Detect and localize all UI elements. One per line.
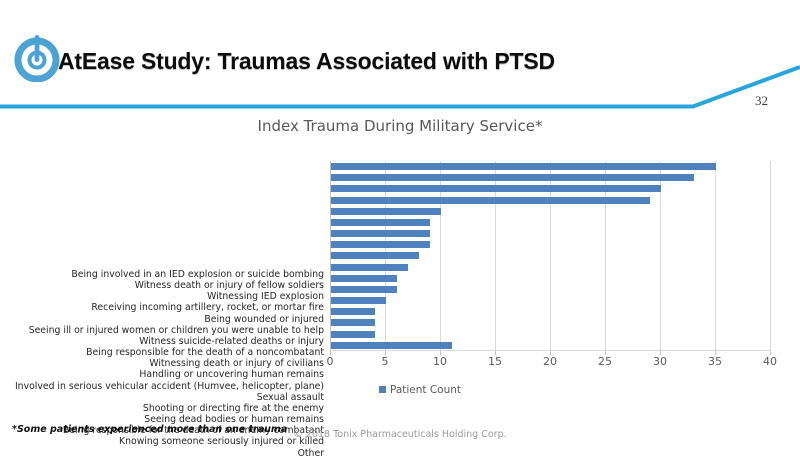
chart-category-label: Witness suicide-related deaths or injury xyxy=(0,336,327,347)
chart-bar-row xyxy=(331,161,771,172)
chart-bar-row xyxy=(331,284,771,295)
chart-bar-row xyxy=(331,317,771,328)
page-title: AtEase Study: Traumas Associated with PT… xyxy=(58,48,555,75)
chart-title: Index Trauma During Military Service* xyxy=(0,117,800,135)
chart-bar-row xyxy=(331,217,771,228)
slide-header: AtEase Study: Traumas Associated with PT… xyxy=(0,0,800,108)
axis-tick-label: 0 xyxy=(327,355,334,368)
chart-plot-area: 0510152025303540 xyxy=(330,161,770,351)
axis-tick-label: 20 xyxy=(543,355,557,368)
copyright-notice: © 2018 Tonix Pharmaceuticals Holding Cor… xyxy=(0,429,800,440)
chart-category-label: Witness death or injury of fellow soldie… xyxy=(0,280,327,291)
chart-bar xyxy=(331,252,419,259)
axis-tick-label: 10 xyxy=(433,355,447,368)
chart-category-label: Shooting or directing fire at the enemy xyxy=(0,403,327,414)
chart-bar xyxy=(331,174,694,181)
chart-bar-row xyxy=(331,239,771,250)
legend-entry: Patient Count xyxy=(379,384,461,396)
axis-tick-label: 25 xyxy=(598,355,612,368)
chart-bar xyxy=(331,163,716,170)
chart-container: Index Trauma During Military Service* Be… xyxy=(0,108,800,398)
chart-bar xyxy=(331,219,430,226)
axis-tick-label: 30 xyxy=(653,355,667,368)
axis-tick-label: 5 xyxy=(382,355,389,368)
chart-bar xyxy=(331,275,397,282)
chart-category-label: Seeing ill or injured women or children … xyxy=(0,325,327,336)
chart-bar xyxy=(331,286,397,293)
chart-bar-row xyxy=(331,206,771,217)
chart-category-label: Being wounded or injured xyxy=(0,314,327,325)
power-button-logo-icon xyxy=(12,30,62,82)
axis-tick-label: 15 xyxy=(488,355,502,368)
chart-category-label: Witnessing IED explosion xyxy=(0,291,327,302)
chart-bar-row xyxy=(331,250,771,261)
legend-label: Patient Count xyxy=(390,384,461,396)
chart-bar xyxy=(331,197,650,204)
chart-bar-row xyxy=(331,228,771,239)
chart-category-label: Other xyxy=(0,448,327,459)
chart-bar-row xyxy=(331,295,771,306)
chart-bar xyxy=(331,308,375,315)
chart-category-label: Witnessing death or injury of civilians xyxy=(0,358,327,369)
chart-bar-row xyxy=(331,340,771,351)
chart-bar xyxy=(331,297,386,304)
slide-number: 32 xyxy=(755,93,768,109)
chart-bar xyxy=(331,241,430,248)
chart-bar xyxy=(331,342,452,349)
chart-bar xyxy=(331,319,375,326)
chart-bar xyxy=(331,208,441,215)
chart-bar-row xyxy=(331,195,771,206)
axis-tick-label: 35 xyxy=(708,355,722,368)
chart-category-label: Handling or uncovering human remains xyxy=(0,369,327,380)
chart-bar-row xyxy=(331,329,771,340)
chart-bar xyxy=(331,264,408,271)
chart-legend: Patient Count xyxy=(0,380,800,398)
chart-bar-row xyxy=(331,306,771,317)
chart-category-label: Being involved in an IED explosion or su… xyxy=(0,269,327,280)
chart-bar-row xyxy=(331,183,771,194)
chart-category-label: Being responsible for the death of a non… xyxy=(0,347,327,358)
chart-category-label: Receiving incoming artillery, rocket, or… xyxy=(0,302,327,313)
axis-tick-label: 40 xyxy=(763,355,777,368)
chart-bar xyxy=(331,331,375,338)
chart-bar-row xyxy=(331,273,771,284)
legend-swatch-icon xyxy=(379,386,386,393)
chart-bar xyxy=(331,230,430,237)
chart-bar-row xyxy=(331,262,771,273)
chart-bar xyxy=(331,185,661,192)
chart-bar-row xyxy=(331,172,771,183)
